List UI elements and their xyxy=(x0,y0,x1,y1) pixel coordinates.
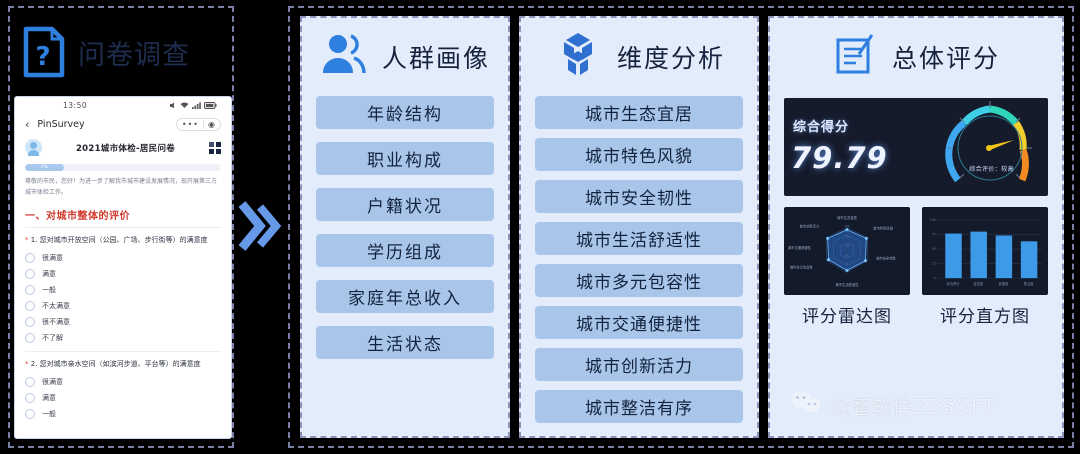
more-icon[interactable]: ••• xyxy=(182,120,199,129)
card-header: 总体评分 xyxy=(770,18,1062,96)
list-item[interactable]: 城市交通便捷性 xyxy=(535,306,743,339)
dimension-item-list: 城市生态宜居 城市特色风貌 城市安全韧性 城市生活舒适性 城市多元包容性 城市交… xyxy=(521,96,757,423)
grid-icon[interactable] xyxy=(209,142,221,154)
status-time: 13:50 xyxy=(63,101,87,110)
svg-text:?: ? xyxy=(35,42,50,72)
progress-bar: 0% xyxy=(25,164,64,171)
cube-icon xyxy=(553,30,603,84)
list-item[interactable]: 年龄结构 xyxy=(316,96,494,129)
svg-text:综合得分: 综合得分 xyxy=(946,281,960,286)
watermark-text: 众智软件ZZSOFT xyxy=(831,391,995,420)
svg-text:75: 75 xyxy=(932,232,936,236)
score-histogram-chart: 综合得分 宜居度 便捷度 整洁度 10075 5025 0 xyxy=(922,207,1048,295)
wechat-capsule[interactable]: ••• ◉ xyxy=(176,118,221,131)
svg-text:城市交通便捷性: 城市交通便捷性 xyxy=(788,245,812,250)
bar-chart-block: 综合得分 宜居度 便捷度 整洁度 10075 5025 0 评分直方图 xyxy=(922,207,1048,327)
gauge-label: 综合得分 xyxy=(793,116,849,135)
svg-text:50: 50 xyxy=(932,247,936,251)
svg-text:城市多元包容性: 城市多元包容性 xyxy=(790,264,814,269)
svg-text:100: 100 xyxy=(930,218,936,222)
radio-icon[interactable] xyxy=(25,285,35,295)
double-chevron-right-icon xyxy=(238,198,282,254)
svg-text:宜居度: 宜居度 xyxy=(973,281,984,286)
option-item[interactable]: 一般 xyxy=(25,409,221,419)
close-icon[interactable]: ◉ xyxy=(208,120,215,129)
list-item[interactable]: 职业构成 xyxy=(316,142,494,175)
phone-mockup: 13:50 ‹ PinSurvey ••• ◉ 2021城市体检-居民问卷 xyxy=(14,96,232,439)
svg-text:25: 25 xyxy=(845,254,849,258)
svg-text:城市特色风貌: 城市特色风貌 xyxy=(873,226,893,231)
option-item[interactable]: 很不满意 xyxy=(25,317,221,327)
required-star: * xyxy=(25,236,29,244)
gauge-value: 79.79 xyxy=(791,141,888,175)
question-text: 您对城市开放空间（公园、广场、步行街等）的满意度 xyxy=(40,236,208,244)
card-title: 总体评分 xyxy=(892,39,1000,75)
questionnaire-title: 问卷调查 xyxy=(78,33,190,72)
screenshot-root: ? 问卷调查 13:50 ‹ PinSurvey ••• ◉ xyxy=(0,0,1080,454)
svg-text:50: 50 xyxy=(845,244,849,248)
card-title: 人群画像 xyxy=(382,39,490,75)
bar-chart-caption: 评分直方图 xyxy=(922,302,1048,327)
radio-icon[interactable] xyxy=(25,301,35,311)
list-item[interactable]: 城市创新活力 xyxy=(535,348,743,381)
card-header: 维度分析 xyxy=(521,18,757,96)
questionnaire-header: ? 问卷调查 xyxy=(22,26,190,78)
list-item[interactable]: 城市整洁有序 xyxy=(535,390,743,423)
list-item[interactable]: 城市生态宜居 xyxy=(535,96,743,129)
card-header: 人群画像 xyxy=(302,18,508,96)
back-chevron-icon[interactable]: ‹ xyxy=(25,118,29,131)
list-item[interactable]: 城市特色风貌 xyxy=(535,138,743,171)
svg-text:75: 75 xyxy=(845,234,849,238)
survey-intro: 尊敬的市民，您好！为进一步了解我市城市建设发展情况，现开展第三方城市体检工作。 xyxy=(25,177,221,198)
card-dimension-analysis: 维度分析 城市生态宜居 城市特色风貌 城市安全韧性 城市生活舒适性 城市多元包容… xyxy=(519,16,759,438)
phone-nav-bar: ‹ PinSurvey ••• ◉ xyxy=(15,114,231,134)
question-text: 您对城市亲水空间（如滨河步道、平台等）的满意度 xyxy=(40,360,201,368)
svg-text:城市创新活力: 城市创新活力 xyxy=(800,224,820,229)
option-item[interactable]: 满意 xyxy=(25,393,221,403)
wifi-icon xyxy=(180,102,189,109)
list-item[interactable]: 城市多元包容性 xyxy=(535,264,743,297)
question-divider xyxy=(25,351,221,352)
option-item[interactable]: 很满意 xyxy=(25,253,221,263)
survey-title-row: 2021城市体检-居民问卷 xyxy=(15,134,231,160)
question-number: 1. xyxy=(31,236,38,244)
survey-title: 2021城市体检-居民问卷 xyxy=(50,142,201,154)
mute-icon xyxy=(169,102,177,109)
people-icon xyxy=(320,31,368,83)
radio-icon[interactable] xyxy=(25,253,35,263)
app-name: PinSurvey xyxy=(37,119,84,130)
svg-text:城市生态宜居: 城市生态宜居 xyxy=(837,215,857,220)
wechat-icon xyxy=(790,390,822,420)
list-item[interactable]: 城市安全韧性 xyxy=(535,180,743,213)
avatar xyxy=(25,139,42,156)
svg-text:0: 0 xyxy=(934,276,936,280)
question-1: * 1. 您对城市开放空间（公园、广场、步行街等）的满意度 很满意 满意 一般 … xyxy=(25,235,221,343)
radio-icon[interactable] xyxy=(25,409,35,419)
svg-text:便捷度: 便捷度 xyxy=(998,281,1009,286)
option-item[interactable]: 一般 xyxy=(25,285,221,295)
battery-icon xyxy=(204,102,217,109)
svg-text:25: 25 xyxy=(932,262,936,266)
radar-chart-caption: 评分雷达图 xyxy=(784,302,910,327)
people-item-list: 年龄结构 职业构成 户籍状况 学历组成 家庭年总收入 生活状态 xyxy=(302,96,508,359)
radio-icon[interactable] xyxy=(25,317,35,327)
option-item[interactable]: 满意 xyxy=(25,269,221,279)
svg-text:城市安全韧性: 城市安全韧性 xyxy=(876,256,896,261)
question-2: * 2. 您对城市亲水空间（如滨河步道、平台等）的满意度 很满意 满意 一般 xyxy=(25,359,221,419)
gauge-dial xyxy=(938,98,1042,196)
option-item[interactable]: 不了解 xyxy=(25,333,221,343)
list-item[interactable]: 家庭年总收入 xyxy=(316,280,494,313)
card-overall-score: 总体评分 综合得分 79.79 xyxy=(768,16,1064,438)
card-title: 维度分析 xyxy=(617,39,725,75)
list-item[interactable]: 生活状态 xyxy=(316,326,494,359)
list-item[interactable]: 城市生活舒适性 xyxy=(535,222,743,255)
question-number: 2. xyxy=(31,360,38,368)
radio-icon[interactable] xyxy=(25,333,35,343)
svg-text:城市生活舒适性: 城市生活舒适性 xyxy=(836,282,860,287)
progress-track: 0% xyxy=(25,164,221,171)
phone-status-bar: 13:50 xyxy=(15,97,231,114)
radar-chart-block: 城市生态宜居 城市特色风貌 城市安全韧性 城市生活舒适性 城市多元包容性 城市交… xyxy=(784,207,910,327)
document-edit-icon xyxy=(832,32,878,82)
radio-icon[interactable] xyxy=(25,377,35,387)
svg-text:0: 0 xyxy=(846,262,848,266)
signal-icon xyxy=(192,102,201,109)
required-star: * xyxy=(25,360,29,368)
svg-text:整洁度: 整洁度 xyxy=(1024,281,1035,286)
status-icons xyxy=(169,102,217,109)
survey-section-title: 一、对城市整体的评价 xyxy=(25,207,221,228)
gauge-caption: 综合评价：较高 xyxy=(969,164,1014,173)
watermark: 众智软件ZZSOFT xyxy=(790,390,995,420)
radio-icon[interactable] xyxy=(25,393,35,403)
capsule-divider xyxy=(203,120,204,129)
score-radar-chart: 城市生态宜居 城市特色风貌 城市安全韧性 城市生活舒适性 城市多元包容性 城市交… xyxy=(784,207,910,295)
card-people-profile: 人群画像 年龄结构 职业构成 户籍状况 学历组成 家庭年总收入 生活状态 xyxy=(300,16,510,438)
option-item[interactable]: 很满意 xyxy=(25,377,221,387)
option-item[interactable]: 不太满意 xyxy=(25,301,221,311)
document-question-icon: ? xyxy=(22,26,66,78)
list-item[interactable]: 户籍状况 xyxy=(316,188,494,221)
mini-chart-row: 城市生态宜居 城市特色风貌 城市安全韧性 城市生活舒适性 城市多元包容性 城市交… xyxy=(784,207,1048,327)
svg-text:100: 100 xyxy=(844,224,850,228)
score-gauge-panel: 综合得分 79.79 xyxy=(784,98,1048,196)
list-item[interactable]: 学历组成 xyxy=(316,234,494,267)
radio-icon[interactable] xyxy=(25,269,35,279)
